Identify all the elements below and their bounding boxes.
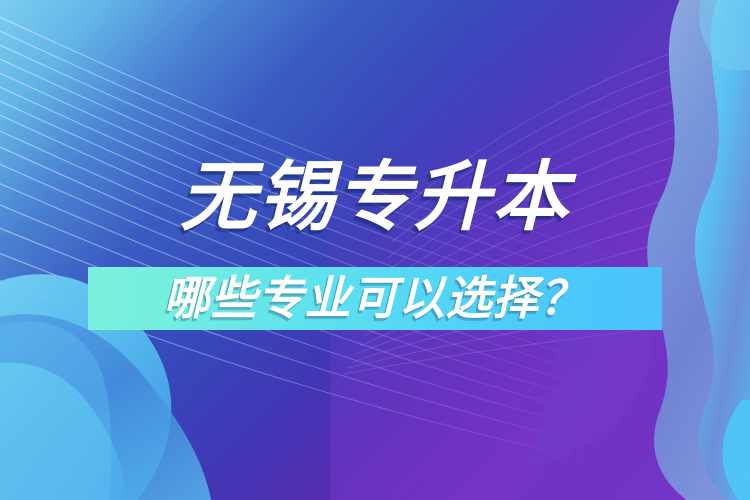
promo-banner: 无锡专升本 哪些专业可以选择？ <box>0 0 750 500</box>
banner-content: 无锡专升本 哪些专业可以选择？ <box>0 0 750 500</box>
banner-subtitle: 哪些专业可以选择？ <box>88 267 662 330</box>
banner-title: 无锡专升本 <box>0 152 750 244</box>
